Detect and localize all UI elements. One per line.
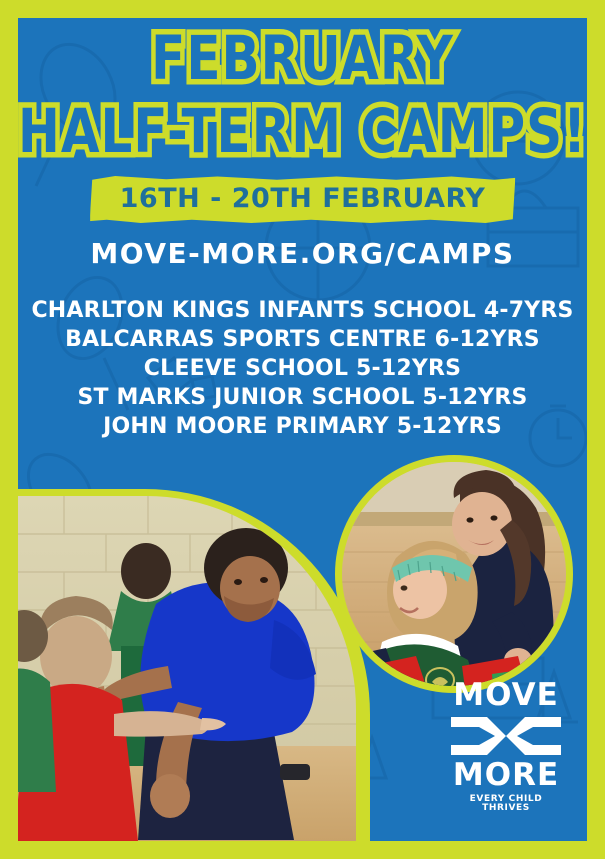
logo-tagline: EVERY CHILD THRIVES: [447, 795, 565, 813]
headline-line-1: FEBRUARY: [18, 28, 587, 90]
poster: FEBRUARY HALF-TERM CAMPS! 16TH - 20TH FE…: [0, 0, 605, 859]
venue-list: CHARLTON KINGS INFANTS SCHOOL 4-7YRS BAL…: [18, 296, 587, 441]
logo-word-move: MOVE: [447, 680, 565, 711]
date-banner: 16TH - 20TH FEBRUARY: [90, 176, 516, 223]
venue-list-item: BALCARRAS SPORTS CENTRE 6-12YRS: [18, 325, 587, 354]
coach-with-girl-photo: [335, 455, 573, 693]
headline-line-2: HALF-TERM CAMPS!: [18, 101, 587, 163]
headline: FEBRUARY HALF-TERM CAMPS!: [18, 28, 587, 152]
website-url[interactable]: MOVE-MORE.ORG/CAMPS: [18, 237, 587, 270]
venue-list-item: CLEEVE SCHOOL 5-12YRS: [18, 354, 587, 383]
logo-word-more: MORE: [447, 760, 565, 791]
coach-pointing-with-children-photo: [18, 489, 370, 841]
poster-blue-panel: FEBRUARY HALF-TERM CAMPS! 16TH - 20TH FE…: [18, 18, 587, 841]
date-banner-text: 16TH - 20TH FEBRUARY: [120, 183, 486, 214]
venue-list-item: CHARLTON KINGS INFANTS SCHOOL 4-7YRS: [18, 296, 587, 325]
venue-list-item: JOHN MOORE PRIMARY 5-12YRS: [18, 412, 587, 441]
move-more-m-icon: [447, 713, 565, 759]
coach-pointing-with-children-photo-image: [18, 496, 356, 841]
coach-with-girl-photo-image: [342, 462, 566, 686]
move-more-logo: MOVE MORE EVERY CHILD THRIVES: [447, 680, 565, 813]
venue-list-item: ST MARKS JUNIOR SCHOOL 5-12YRS: [18, 383, 587, 412]
